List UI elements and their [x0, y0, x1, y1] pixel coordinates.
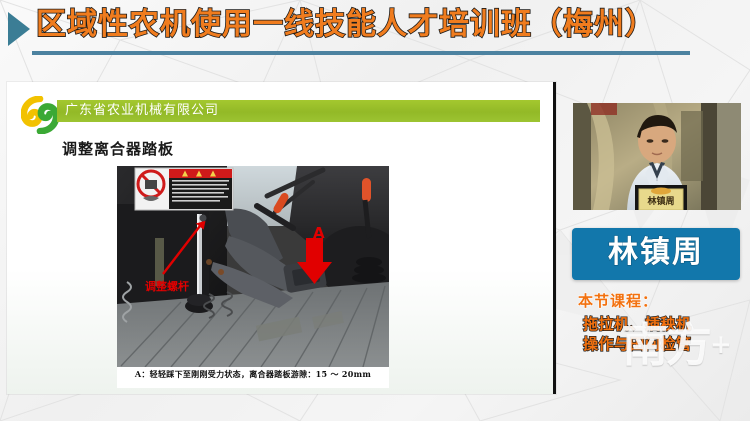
course-label: 本节课程：	[578, 290, 658, 311]
warning-label-icon	[135, 168, 233, 210]
company-name-bar: 广东省农业机械有限公司	[57, 100, 540, 122]
screenshot-root: 区域性农机使用一线技能人才培训班（梅州） 广东省农业机械有限公司 调整离合器踏板	[0, 0, 750, 421]
slide-canvas: 广东省农业机械有限公司 调整离合器踏板	[7, 82, 553, 394]
header-divider	[32, 51, 690, 55]
play-triangle-icon	[8, 12, 30, 46]
photo-caption: A：轻轻踩下至刚刚受力状态，离合器踏板游隙：15 ～ 20mm	[117, 369, 389, 380]
tractor-clutch-pedal-photo: 调整螺杆 A	[117, 166, 389, 367]
company-swirl-logo	[21, 96, 59, 134]
photo-block: 调整螺杆 A A：轻轻踩下至刚刚受力状态，离合器踏板游隙：15 ～ 20mm	[117, 166, 389, 388]
speaker-name-text: 林镇周	[572, 234, 740, 272]
page-title: 区域性农机使用一线技能人才培训班（梅州）	[36, 4, 656, 46]
speaker-webcam-video[interactable]: 林镇周	[573, 103, 741, 210]
slide-heading: 调整离合器踏板	[62, 138, 174, 159]
slide-panel[interactable]: 广东省农业机械有限公司 调整离合器踏板	[7, 82, 556, 394]
company-name-text: 广东省农业机械有限公司	[65, 102, 219, 120]
speaker-name-box: 林镇周	[572, 228, 740, 280]
annotation-screw-text: 调整螺杆	[145, 279, 189, 293]
course-line-2: 操作与田间检管	[583, 333, 692, 354]
page-header: 区域性农机使用一线技能人才培训班（梅州）	[0, 0, 750, 68]
course-line-1: 拖拉机、插秧机	[583, 313, 692, 334]
svg-text:林镇周: 林镇周	[647, 195, 674, 207]
